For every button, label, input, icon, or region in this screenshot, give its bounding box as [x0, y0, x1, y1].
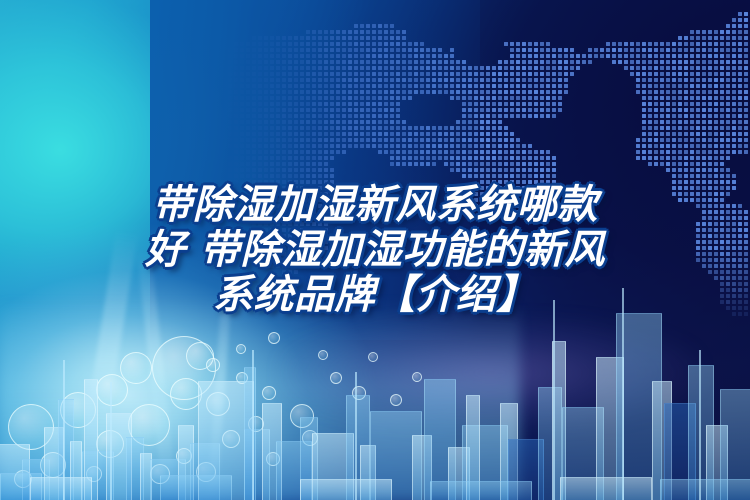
banner-headline: 带除湿加湿新风系统哪款 好 带除湿加湿功能的新风 系统品牌【介绍】	[0, 183, 750, 318]
building	[660, 479, 750, 500]
antenna-mast	[355, 372, 357, 500]
banner-image: 带除湿加湿新风系统哪款 好 带除湿加湿功能的新风 系统品牌【介绍】	[0, 0, 750, 500]
antenna-mast	[63, 360, 65, 500]
headline-line-3: 系统品牌【介绍】	[0, 273, 750, 318]
headline-line-2: 好 带除湿加湿功能的新风	[0, 228, 750, 273]
antenna-mast	[252, 350, 254, 500]
building	[430, 481, 532, 500]
antenna-mast	[553, 300, 555, 500]
building	[300, 479, 392, 500]
headline-line-1: 带除湿加湿新风系统哪款	[0, 183, 750, 228]
building	[244, 367, 256, 500]
antenna-mast	[699, 350, 701, 500]
antenna-mast	[110, 382, 112, 500]
building	[560, 477, 652, 500]
building	[30, 477, 92, 500]
building	[160, 475, 232, 500]
antenna-mast	[622, 288, 624, 500]
